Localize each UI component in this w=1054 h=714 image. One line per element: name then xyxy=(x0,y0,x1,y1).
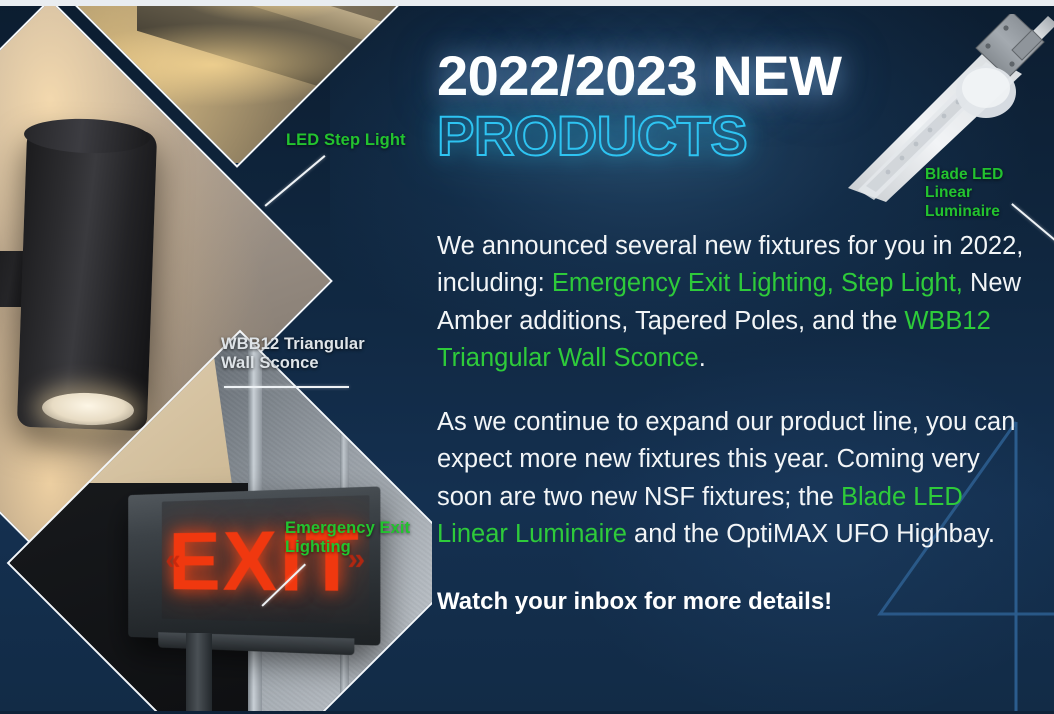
callout-led-step-light: LED Step Light xyxy=(286,131,406,150)
p1-green-products: Emergency Exit Lighting, Step Light, xyxy=(552,269,963,297)
callout-label-line2: Wall Sconce xyxy=(221,354,365,373)
product-photo-collage: EXIT « » xyxy=(0,6,432,714)
callout-label-line1: Emergency Exit xyxy=(285,519,410,538)
leader-line-wall-sconce xyxy=(224,386,349,388)
callout-wbb12-wall-sconce: WBB12 Triangular Wall Sconce xyxy=(221,335,365,374)
callout-label-line1: Blade LED Linear xyxy=(925,166,1054,203)
callout-label-line2: Luminaire xyxy=(925,203,1054,221)
p2-seg3: and the OptiMAX UFO Highbay. xyxy=(627,520,995,548)
body-copy: We announced several new fixtures for yo… xyxy=(437,228,1025,580)
callout-label-line1: WBB12 Triangular xyxy=(221,335,365,354)
paragraph-two: As we continue to expand our product lin… xyxy=(437,404,1025,554)
callout-label-line1: LED Step Light xyxy=(286,131,406,150)
promo-banner: EXIT « » xyxy=(0,0,1054,714)
callout-label-line2: Lighting xyxy=(285,538,410,557)
callout-emergency-exit-lighting: Emergency Exit Lighting xyxy=(285,519,410,558)
call-to-action: Watch your inbox for more details! xyxy=(437,588,997,616)
p1-seg5: . xyxy=(699,344,706,372)
top-border-rule xyxy=(0,0,1054,6)
headline-line2: PRODUCTS xyxy=(437,106,957,165)
callout-blade-led-linear-luminaire: Blade LED Linear Luminaire xyxy=(925,166,1054,221)
headline-line1: 2022/2023 NEW xyxy=(437,48,957,104)
paragraph-one: We announced several new fixtures for yo… xyxy=(437,228,1025,378)
headline: 2022/2023 NEW PRODUCTS xyxy=(437,48,957,165)
exit-chevron-left-icon: « xyxy=(165,544,180,577)
